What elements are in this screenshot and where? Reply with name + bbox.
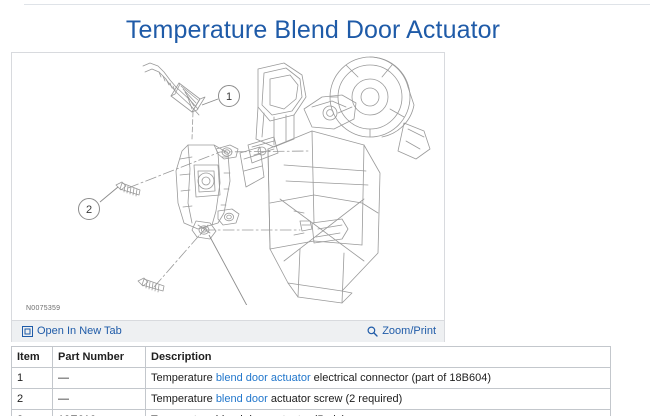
column-header-item: Item	[12, 347, 53, 368]
cell-part-number: —	[53, 368, 146, 389]
figure-panel: 1 2 3 N0075359 Open In New Tab	[11, 52, 445, 342]
cell-part-number: —	[53, 389, 146, 410]
cell-item: 3	[12, 410, 53, 416]
figure-id-label: N0075359	[26, 305, 60, 312]
table-row: 3 19E616 Temperature blend door actuator…	[12, 410, 611, 416]
magnifier-icon	[367, 326, 378, 337]
open-in-new-tab-button[interactable]: Open In New Tab	[22, 324, 122, 338]
top-divider	[24, 4, 650, 5]
cell-item: 1	[12, 368, 53, 389]
cell-description: Temperature blend door actuator (5-pin)	[146, 410, 611, 416]
zoom-print-button[interactable]: Zoom/Print	[367, 324, 436, 338]
description-text-pre: Temperature	[151, 372, 216, 384]
table-row: 2 — Temperature blend door actuator scre…	[12, 389, 611, 410]
cell-item: 2	[12, 389, 53, 410]
description-text-post: actuator screw (2 required)	[268, 393, 403, 405]
svg-text:1: 1	[226, 91, 232, 103]
figure-illustration: 1 2 3	[12, 53, 444, 305]
column-header-description: Description	[146, 347, 611, 368]
svg-text:2: 2	[86, 204, 92, 216]
description-text-post: electrical connector (part of 18B604)	[311, 372, 491, 384]
table-header-row: Item Part Number Description	[12, 347, 611, 368]
page-title: Temperature Blend Door Actuator	[0, 16, 626, 45]
open-in-new-tab-icon	[22, 326, 33, 337]
cell-part-number: 19E616	[53, 410, 146, 416]
cell-description: Temperature blend door actuator electric…	[146, 368, 611, 389]
zoom-print-label: Zoom/Print	[382, 324, 436, 338]
description-link[interactable]: blend door	[216, 393, 268, 405]
cell-description: Temperature blend door actuator screw (2…	[146, 389, 611, 410]
description-link[interactable]: blend door actuator	[216, 372, 311, 384]
open-in-new-tab-label: Open In New Tab	[37, 324, 122, 338]
column-header-part-number: Part Number	[53, 347, 146, 368]
parts-table: Item Part Number Description 1 — Tempera…	[11, 346, 611, 416]
description-text-pre: Temperature	[151, 393, 216, 405]
figure-toolbar: Open In New Tab Zoom/Print	[12, 320, 444, 342]
table-row: 1 — Temperature blend door actuator elec…	[12, 368, 611, 389]
page-root: Temperature Blend Door Actuator	[0, 0, 650, 416]
